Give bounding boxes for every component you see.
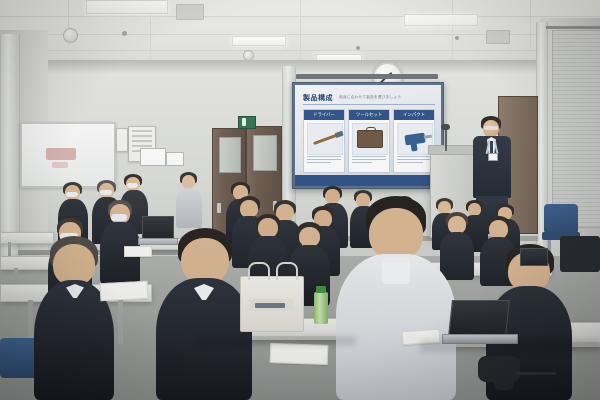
slide-column: ツールセット <box>348 109 390 173</box>
laptop-screen[interactable] <box>448 300 510 336</box>
tote-bag-handle <box>248 262 270 280</box>
tote-bag-logo <box>255 303 285 308</box>
face-mask <box>484 126 498 130</box>
shirt-collar <box>382 258 410 284</box>
slide-column-header: ツールセット <box>349 110 389 120</box>
exit-sign <box>238 116 256 129</box>
wall-ceiling-shadow <box>0 60 600 74</box>
screen-roller <box>296 74 438 79</box>
sprinkler-head <box>356 46 360 50</box>
slide-column-text <box>397 156 431 165</box>
slide-column-text <box>307 156 341 165</box>
equipment-bag[interactable] <box>560 236 600 272</box>
audience-member <box>100 200 140 284</box>
paper-document[interactable] <box>100 281 149 301</box>
slide-column-text <box>352 156 386 165</box>
whiteboard <box>20 122 116 188</box>
curtain-rail <box>546 26 600 29</box>
laptop-base <box>138 238 178 245</box>
toolbox-icon <box>352 123 388 155</box>
paper-document[interactable] <box>270 343 329 365</box>
slide-column: インパクト <box>393 109 435 173</box>
tote-bag-handle <box>276 262 298 280</box>
paper-document[interactable] <box>124 246 152 257</box>
screwdriver-icon <box>307 123 343 155</box>
name-badge <box>488 153 498 161</box>
sprinkler-head <box>122 31 127 36</box>
shadow <box>196 336 356 346</box>
shadow <box>420 340 600 352</box>
slide-column-header: ドライバー <box>304 110 344 120</box>
chair[interactable] <box>544 204 578 234</box>
beverage-bottle[interactable] <box>314 292 328 324</box>
laptop-screen[interactable] <box>520 248 548 266</box>
ceiling-vent <box>486 30 510 44</box>
audience-member <box>336 196 456 400</box>
ceiling-grid-line <box>300 0 301 62</box>
ceiling-vent <box>176 4 204 20</box>
audience-member <box>156 228 252 400</box>
projection-screen: 製品構成 用途に合わせて製品を選びましょう ドライバー ツールセット インパクト <box>292 82 444 189</box>
slide-divider <box>303 104 435 105</box>
cable <box>516 372 556 375</box>
mouse[interactable] <box>494 374 514 390</box>
ceiling-light <box>232 36 286 46</box>
ceiling-grid-line <box>452 0 453 62</box>
audience-member <box>176 172 202 228</box>
wall-poster <box>166 152 184 166</box>
table-leg <box>118 300 123 344</box>
wall-notice <box>116 128 128 152</box>
bottle-cap <box>316 286 326 293</box>
laptop-screen[interactable] <box>142 216 174 240</box>
slide-column-header: インパクト <box>394 110 434 120</box>
slide-subtitle: 用途に合わせて製品を選びましょう <box>339 95 401 100</box>
ceiling-speaker <box>63 28 78 43</box>
ceiling-light <box>86 0 168 14</box>
ceiling-light <box>404 14 478 26</box>
wall-poster <box>140 148 166 166</box>
ceiling-grid-line <box>530 0 531 48</box>
photo-scene: 製品構成 用途に合わせて製品を選びましょう ドライバー ツールセット インパクト <box>0 0 600 400</box>
window-blind[interactable] <box>552 30 600 228</box>
slide-column: ドライバー <box>303 109 345 173</box>
sprinkler-head <box>455 36 459 40</box>
slide-footer-band <box>295 175 441 186</box>
tote-bag[interactable] <box>240 276 304 332</box>
slide-title: 製品構成 <box>303 93 333 103</box>
